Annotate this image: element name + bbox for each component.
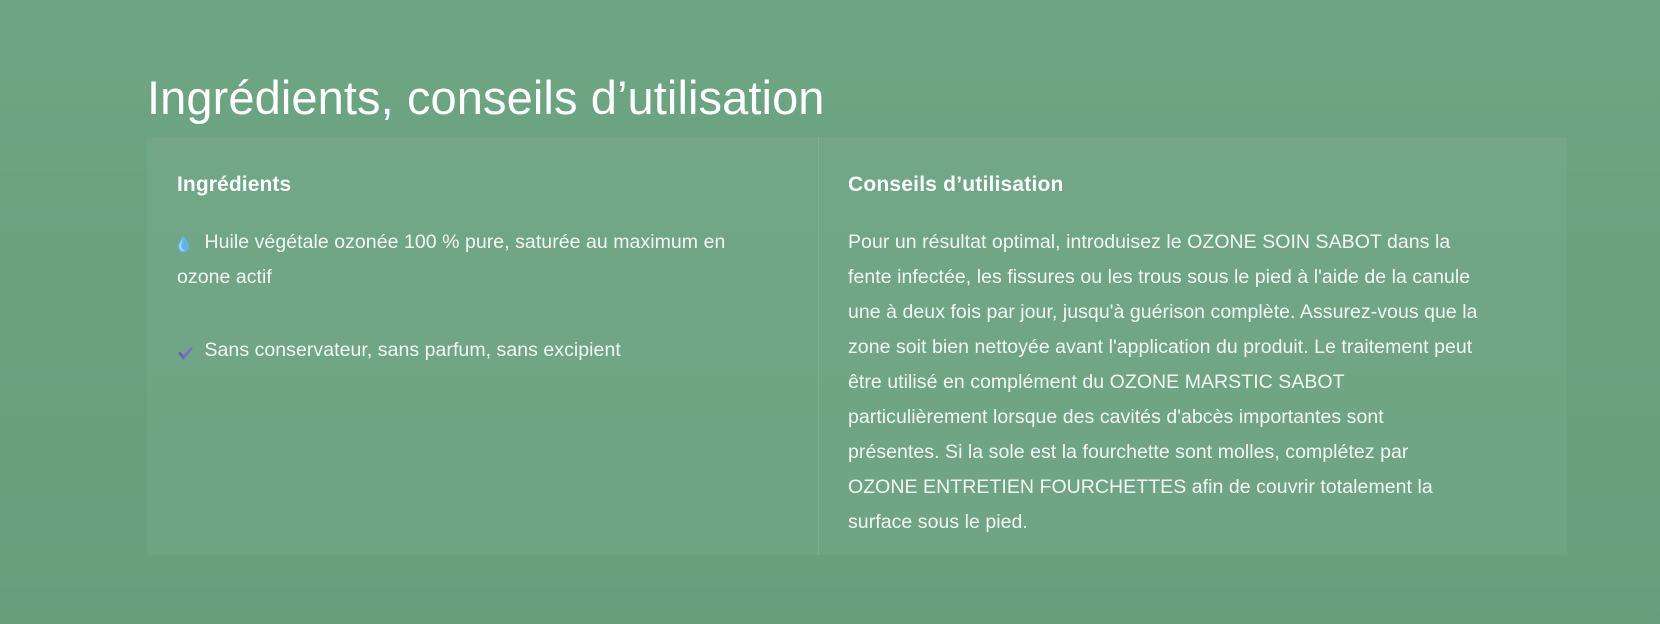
content-panel: Ingrédients Huile végétale ozonée 100 % … <box>147 137 1567 555</box>
list-item-text: Huile végétale ozonée 100 % pure, saturé… <box>177 231 725 288</box>
check-mark-icon <box>177 343 199 361</box>
list-item-text: Sans conservateur, sans parfum, sans exc… <box>204 339 620 361</box>
ingredients-heading: Ingrédients <box>177 171 766 199</box>
page-title: Ingrédients, conseils d’utilisation <box>147 67 825 129</box>
advice-card: Conseils d’utilisation Pour un résultat … <box>818 137 1567 555</box>
advice-body-text: Pour un résultat optimal, introduisez le… <box>848 225 1479 540</box>
droplet-icon <box>177 235 199 253</box>
ingredients-card: Ingrédients Huile végétale ozonée 100 % … <box>147 137 818 555</box>
list-item: Huile végétale ozonée 100 % pure, saturé… <box>177 225 766 295</box>
list-item: Sans conservateur, sans parfum, sans exc… <box>177 333 766 368</box>
advice-heading: Conseils d’utilisation <box>848 171 1479 199</box>
page-root: Ingrédients, conseils d’utilisation Ingr… <box>0 0 1660 624</box>
